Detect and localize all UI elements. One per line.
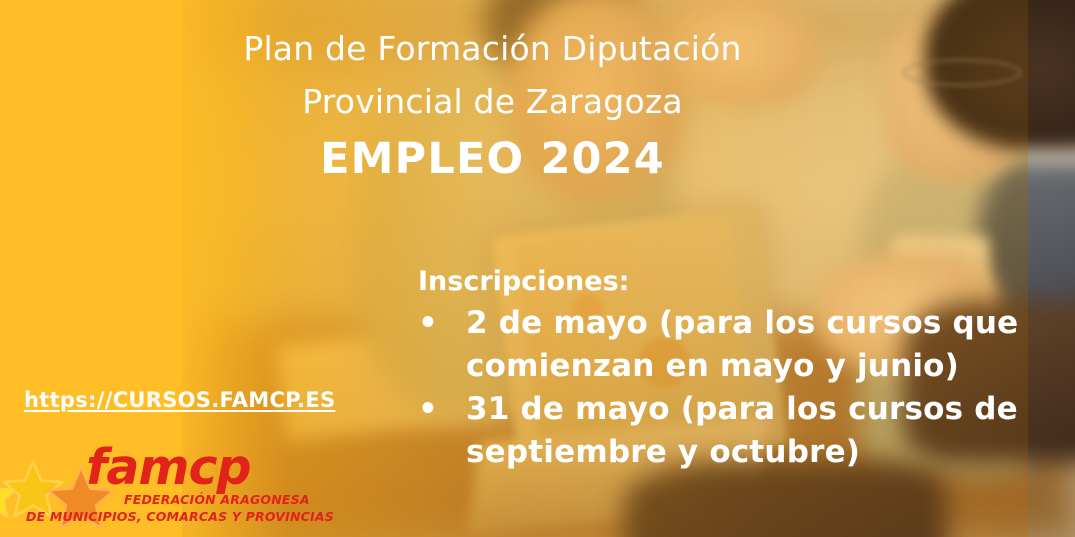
enrolment-item: 31 de mayo (para los cursos de septiembr… [418, 388, 1057, 474]
cursos-url-link[interactable]: https://CURSOS.FAMCP.ES [24, 388, 335, 412]
banner-content: Plan de Formación Diputación Provincial … [0, 0, 1075, 537]
enrolment-heading: Inscripciones: [418, 266, 1057, 298]
promo-banner: Plan de Formación Diputación Provincial … [0, 0, 1075, 537]
enrolment-block: Inscripciones: 2 de mayo (para los curso… [418, 266, 1057, 473]
famcp-logo: famcp FEDERACIÓN ARAGONESA DE MUNICIPIOS… [0, 439, 264, 531]
enrolment-list: 2 de mayo (para los cursos que comienzan… [418, 302, 1057, 473]
title-line-2: Provincial de Zaragoza [0, 75, 985, 128]
title-line-1: Plan de Formación Diputación [0, 22, 985, 75]
logo-tagline-line1: FEDERACIÓN ARAGONESA [124, 492, 310, 507]
enrolment-item: 2 de mayo (para los cursos que comienzan… [418, 302, 1057, 388]
title-group: Plan de Formación Diputación Provincial … [0, 22, 1075, 187]
headline: EMPLEO 2024 [0, 129, 985, 187]
logo-tagline-line2: DE MUNICIPIOS, COMARCAS Y PROVINCIAS [26, 509, 334, 524]
logo-wordmark: famcp [86, 443, 251, 492]
